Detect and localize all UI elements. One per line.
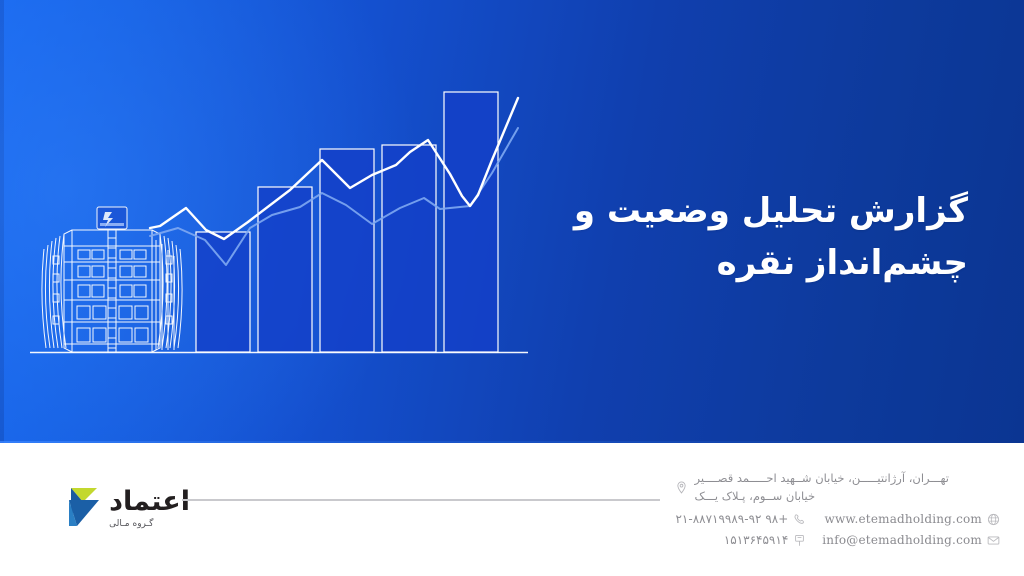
- cover-artwork: [0, 0, 560, 443]
- page-title-line-1: گزارش تحلیل وضعیت و: [538, 186, 968, 238]
- address-line-1: تهـــران، آرژانتیـــــن، خیابان شــهید ا…: [694, 469, 949, 487]
- address-row: تهـــران، آرژانتیـــــن، خیابان شــهید ا…: [675, 469, 1000, 506]
- brand-name: اعتماد: [109, 488, 190, 515]
- bar-chart: [196, 92, 498, 352]
- map-pin-icon: [675, 481, 688, 494]
- brand-logo[interactable]: اعتماد گـروه مـالی: [30, 475, 190, 541]
- email-text: info@etemadholding.com: [822, 531, 982, 550]
- globe-icon: [987, 513, 1000, 526]
- footer-divider: [182, 499, 660, 501]
- postal-code-text: ۱۵۱۳۶۴۵۹۱۴: [724, 531, 788, 550]
- contact-grid: www.etemadholding.com +۹۸ ۲۱-۸۸۷۱۹۹۸۹-۹۲…: [675, 510, 1000, 550]
- postal-code-cell: ۱۵۱۳۶۴۵۹۱۴: [675, 531, 806, 550]
- footer-bar: اعتماد گـروه مـالی تهـــران، آرژانتیــــ…: [0, 443, 1024, 576]
- bar-5: [444, 92, 498, 352]
- title-block: گزارش تحلیل وضعیت و چشم‌انداز نقره: [538, 186, 968, 289]
- postal-code-icon: [793, 534, 806, 547]
- phone-cell[interactable]: +۹۸ ۲۱-۸۸۷۱۹۹۸۹-۹۲: [675, 510, 806, 529]
- etemad-triangle-logo-icon: [63, 486, 103, 530]
- bar-1: [196, 232, 250, 352]
- building-lineart: [42, 207, 182, 352]
- brand-logo-text: اعتماد گـروه مـالی: [109, 488, 190, 529]
- phone-text: +۹۸ ۲۱-۸۸۷۱۹۹۸۹-۹۲: [675, 510, 788, 529]
- page-title-line-2: چشم‌انداز نقره: [538, 238, 968, 290]
- slide-root: گزارش تحلیل وضعیت و چشم‌انداز نقره اعتما…: [0, 0, 1024, 576]
- website-cell[interactable]: www.etemadholding.com: [822, 510, 1000, 529]
- contact-block: تهـــران، آرژانتیـــــن، خیابان شــهید ا…: [675, 469, 1000, 550]
- phone-icon: [793, 513, 806, 526]
- envelope-icon: [987, 534, 1000, 547]
- address-lines: تهـــران، آرژانتیـــــن، خیابان شــهید ا…: [694, 469, 949, 506]
- bar-4: [382, 145, 436, 352]
- brand-tagline: گـروه مـالی: [109, 520, 153, 529]
- address-line-2: خیابان ســوم، پـلاک یـــک: [694, 487, 815, 505]
- website-text: www.etemadholding.com: [824, 510, 982, 529]
- email-cell[interactable]: info@etemadholding.com: [822, 531, 1000, 550]
- building-sign: [97, 207, 127, 229]
- hero-panel: گزارش تحلیل وضعیت و چشم‌انداز نقره: [0, 0, 1024, 443]
